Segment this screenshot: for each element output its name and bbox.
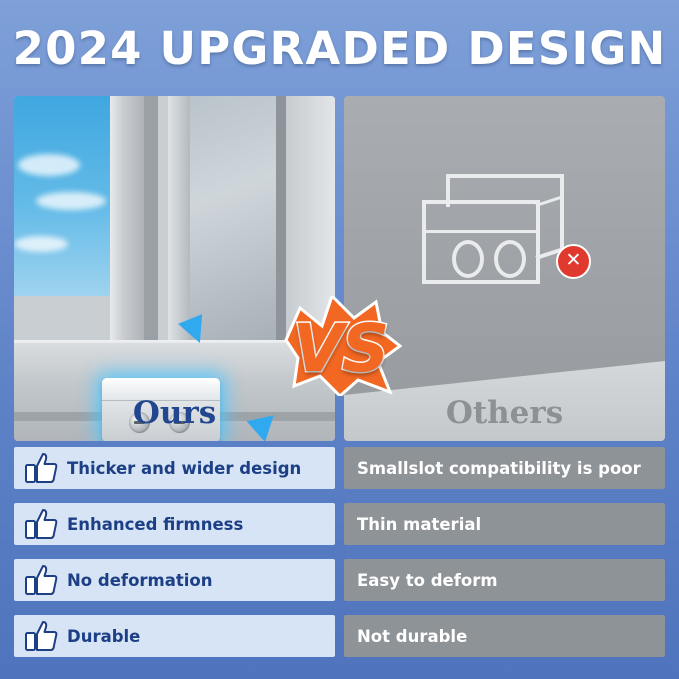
outline-edge <box>536 200 540 284</box>
thumbs-up-icon <box>24 563 58 597</box>
outline-edge <box>446 174 450 204</box>
thumbs-up-icon <box>24 619 58 653</box>
ours-caption: Ours <box>14 395 335 431</box>
list-item-label: No deformation <box>67 571 213 590</box>
list-item-label: Thin material <box>344 515 481 534</box>
list-item-label: Not durable <box>344 627 467 646</box>
reject-badge: ✕ <box>556 244 591 279</box>
list-item: Not durable <box>344 615 665 657</box>
vs-label: VS <box>278 310 402 387</box>
others-caption: Others <box>344 395 665 431</box>
outline-edge <box>422 200 426 284</box>
list-item-label: Easy to deform <box>344 571 498 590</box>
list-item: Thin material <box>344 503 665 545</box>
list-item: Easy to deform <box>344 559 665 601</box>
cloud-shape <box>14 236 68 252</box>
screw-hole-outline <box>452 240 484 278</box>
list-item: No deformation <box>14 559 335 601</box>
list-item-label: Durable <box>67 627 140 646</box>
page-title: 2024 UPGRADED DESIGN <box>0 22 679 75</box>
outline-edge <box>560 174 564 256</box>
list-item-label: Thicker and wider design <box>67 459 301 478</box>
list-item: Smallslot compatibility is poor <box>344 447 665 489</box>
cloud-shape <box>36 192 106 210</box>
window-frame-vertical <box>168 96 190 358</box>
window-frame-vertical <box>110 96 144 358</box>
list-item: Durable <box>14 615 335 657</box>
window-frame-vertical <box>144 96 158 358</box>
cloud-shape <box>18 154 80 176</box>
vs-badge: VS <box>278 296 402 396</box>
outline-edge <box>422 200 540 204</box>
list-item: Thicker and wider design <box>14 447 335 489</box>
thumbs-up-icon <box>24 507 58 541</box>
thumbs-up-icon <box>24 451 58 485</box>
list-item-label: Smallslot compatibility is poor <box>344 459 641 478</box>
promo-image: 2024 UPGRADED DESIGN <box>0 0 679 679</box>
others-feature-list: Smallslot compatibility is poor Thin mat… <box>344 447 665 671</box>
outline-edge <box>422 280 540 284</box>
ours-feature-list: Thicker and wider design Enhanced firmne… <box>14 447 335 671</box>
screw-hole-outline <box>494 240 526 278</box>
outline-edge <box>422 230 540 233</box>
list-item: Enhanced firmness <box>14 503 335 545</box>
outline-edge <box>446 204 450 207</box>
outline-edge <box>446 174 564 178</box>
list-item-label: Enhanced firmness <box>67 515 243 534</box>
